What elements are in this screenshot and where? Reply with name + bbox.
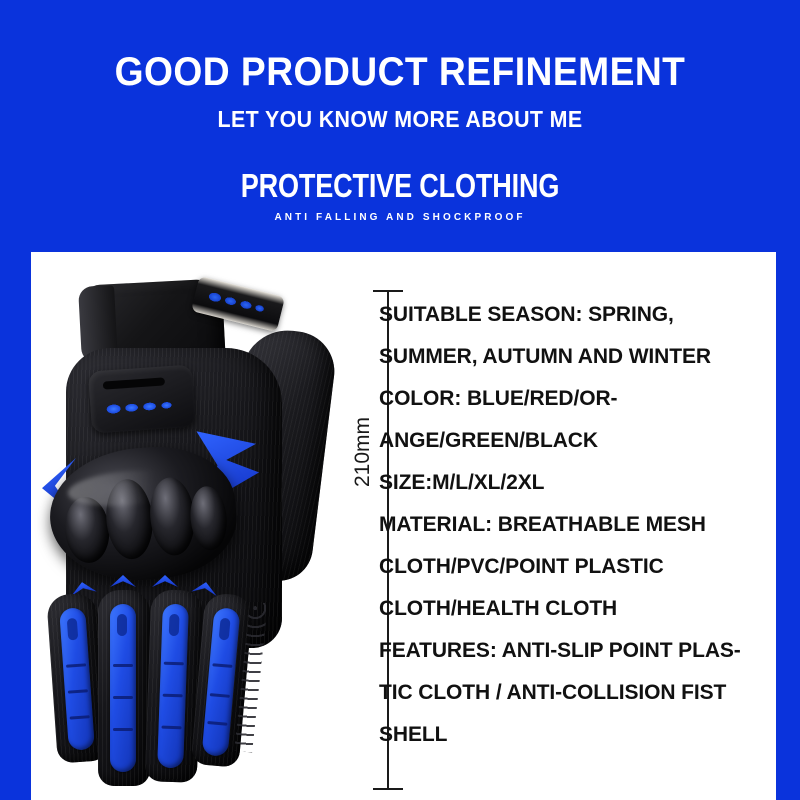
armor-segment (113, 728, 133, 731)
strap-brand-logo (203, 286, 269, 319)
spec-line: ANGE/GREEN/BLACK (379, 420, 771, 462)
armor-segment (163, 694, 183, 698)
spec-line: SUITABLE SEASON: SPRING, (379, 294, 771, 336)
armor-segment (212, 663, 232, 668)
spec-line: SUMMER, AUTUMN AND WINTER (379, 336, 771, 378)
spec-line: FEATURES: ANTI-SLIP POINT PLAS- (379, 630, 771, 672)
product-detail-card: 210mm SUITABLE SEASON: SPRING, SUMMER, A… (31, 252, 776, 800)
armor-segment (164, 662, 184, 666)
armor-segment (66, 663, 86, 667)
armor-segment (70, 715, 90, 719)
category-band: PROTECTIVE CLOTHING ANTI FALLING AND SHO… (0, 169, 800, 223)
spec-line: CLOTH/PVC/POINT PLASTIC (379, 546, 771, 588)
product-photo (36, 272, 326, 800)
armor-segment (68, 689, 88, 693)
armor-segment (113, 664, 133, 667)
spec-line: COLOR: BLUE/RED/OR- (379, 378, 771, 420)
spec-line: SHELL (379, 714, 771, 756)
header-band: GOOD PRODUCT REFINEMENT LET YOU KNOW MOR… (0, 0, 800, 223)
patch-vent-slot (103, 377, 165, 389)
armor-segment (210, 693, 230, 698)
armor-segment (207, 721, 227, 726)
spec-line: CLOTH/HEALTH CLOTH (379, 588, 771, 630)
finger-armor-2 (110, 604, 136, 772)
page-title: GOOD PRODUCT REFINEMENT (28, 52, 772, 92)
armor-segment (113, 696, 133, 699)
spec-list: SUITABLE SEASON: SPRING, SUMMER, AUTUMN … (379, 294, 771, 756)
logo-patch (88, 364, 196, 433)
spec-line: SIZE:M/L/XL/2XL (379, 462, 771, 504)
armor-segment (162, 726, 182, 730)
patch-brand-logo (102, 395, 179, 417)
dimension-label: 210mm (351, 402, 375, 502)
spec-line: MATERIAL: BREATHABLE MESH (379, 504, 771, 546)
knuckle-bump-4 (188, 485, 229, 552)
category-title: PROTECTIVE CLOTHING (72, 169, 728, 202)
page-subtitle: LET YOU KNOW MORE ABOUT ME (28, 108, 772, 131)
dimension-cap-bottom (373, 788, 403, 790)
spec-line: TIC CLOTH / ANTI-COLLISION FIST (379, 672, 771, 714)
category-tagline: ANTI FALLING AND SHOCKPROOF (0, 213, 800, 223)
glove-illustration (36, 272, 326, 800)
